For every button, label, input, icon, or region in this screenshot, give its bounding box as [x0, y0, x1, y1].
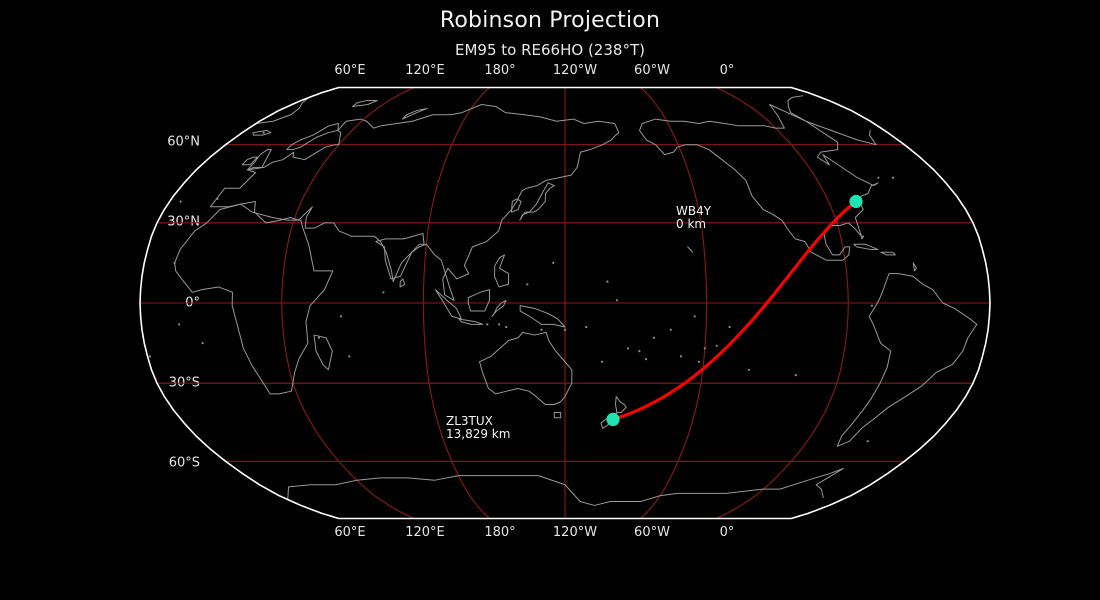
island-dot-2 — [680, 355, 682, 357]
island-dot-10 — [526, 283, 528, 285]
island-dot-26 — [698, 361, 700, 363]
island-dot-19 — [202, 342, 204, 344]
coastline-1 — [210, 105, 618, 301]
island-dot-29 — [645, 358, 647, 360]
island-dot-11 — [382, 291, 384, 293]
figure-canvas: Robinson Projection EM95 to RE66HO (238°… — [0, 0, 1100, 600]
island-dot-0 — [704, 347, 706, 349]
coastline-20 — [869, 130, 876, 144]
coastline-31 — [861, 236, 863, 239]
island-dot-21 — [149, 355, 151, 357]
coastline-17 — [616, 397, 627, 413]
coastline-19 — [640, 105, 879, 261]
coastline-16 — [554, 412, 561, 417]
island-dot-14 — [318, 337, 320, 339]
island-dot-24 — [748, 369, 750, 371]
island-dot-6 — [585, 326, 587, 328]
island-dot-12 — [340, 315, 342, 317]
endpoint-distance-wb4y: 0 km — [676, 217, 706, 231]
coastline-14 — [494, 255, 508, 287]
island-dot-23 — [795, 374, 797, 376]
island-dot-35 — [564, 329, 566, 331]
coastline-15 — [480, 332, 572, 404]
coastline-9 — [435, 290, 461, 319]
island-dot-28 — [670, 329, 672, 331]
coastline-11 — [468, 290, 489, 311]
island-dot-32 — [877, 177, 879, 179]
endpoint-marker-wb4y[interactable] — [849, 195, 862, 208]
island-dot-16 — [180, 200, 182, 202]
island-dot-25 — [716, 345, 718, 347]
coastline-30 — [688, 247, 693, 252]
coastline-24 — [881, 252, 895, 255]
endpoint-label-zl3tux: ZL3TUX — [446, 414, 493, 428]
endpoint-marker-zl3tux[interactable] — [606, 413, 619, 426]
island-dot-9 — [552, 262, 554, 264]
island-dot-27 — [694, 315, 696, 317]
coastline-29 — [913, 263, 916, 271]
coastline-22 — [837, 274, 977, 447]
coastline-25 — [610, 469, 843, 502]
island-dot-8 — [606, 281, 608, 283]
coastline-0 — [175, 204, 333, 394]
island-dot-37 — [486, 323, 488, 325]
endpoint-label-wb4y: WB4Y — [676, 204, 711, 218]
coastline-23 — [854, 244, 878, 249]
coastlines-group — [149, 96, 977, 506]
island-dot-20 — [178, 323, 180, 325]
coastline-3 — [247, 150, 271, 170]
island-dot-7 — [616, 299, 618, 301]
coastline-20 — [788, 96, 876, 145]
coastline-21 — [253, 130, 271, 135]
island-dot-31 — [263, 132, 265, 134]
island-dot-3 — [653, 337, 655, 339]
island-dot-33 — [892, 177, 894, 179]
island-dot-30 — [627, 347, 629, 349]
coastline-25 — [288, 476, 611, 506]
route-line — [613, 201, 856, 419]
island-dot-34 — [540, 329, 542, 331]
coastline-26 — [352, 101, 377, 107]
coastline-28 — [314, 335, 332, 370]
coastline-8 — [511, 199, 521, 212]
coastline-6 — [400, 279, 405, 287]
island-dot-4 — [638, 350, 640, 352]
coastline-5 — [376, 234, 424, 279]
island-dot-5 — [601, 361, 603, 363]
island-dot-1 — [729, 326, 731, 328]
robinson-map — [0, 0, 1100, 600]
coastline-10 — [459, 319, 483, 324]
coastline-13 — [520, 306, 565, 327]
island-dot-17 — [174, 262, 176, 264]
graticule-group — [140, 88, 990, 519]
island-dot-36 — [505, 326, 507, 328]
island-dot-13 — [348, 355, 350, 357]
island-dot-18 — [867, 440, 869, 442]
endpoint-distance-zl3tux: 13,829 km — [446, 427, 510, 441]
island-dot-22 — [871, 305, 873, 307]
island-dot-38 — [498, 323, 500, 325]
island-dot-15 — [216, 198, 218, 200]
